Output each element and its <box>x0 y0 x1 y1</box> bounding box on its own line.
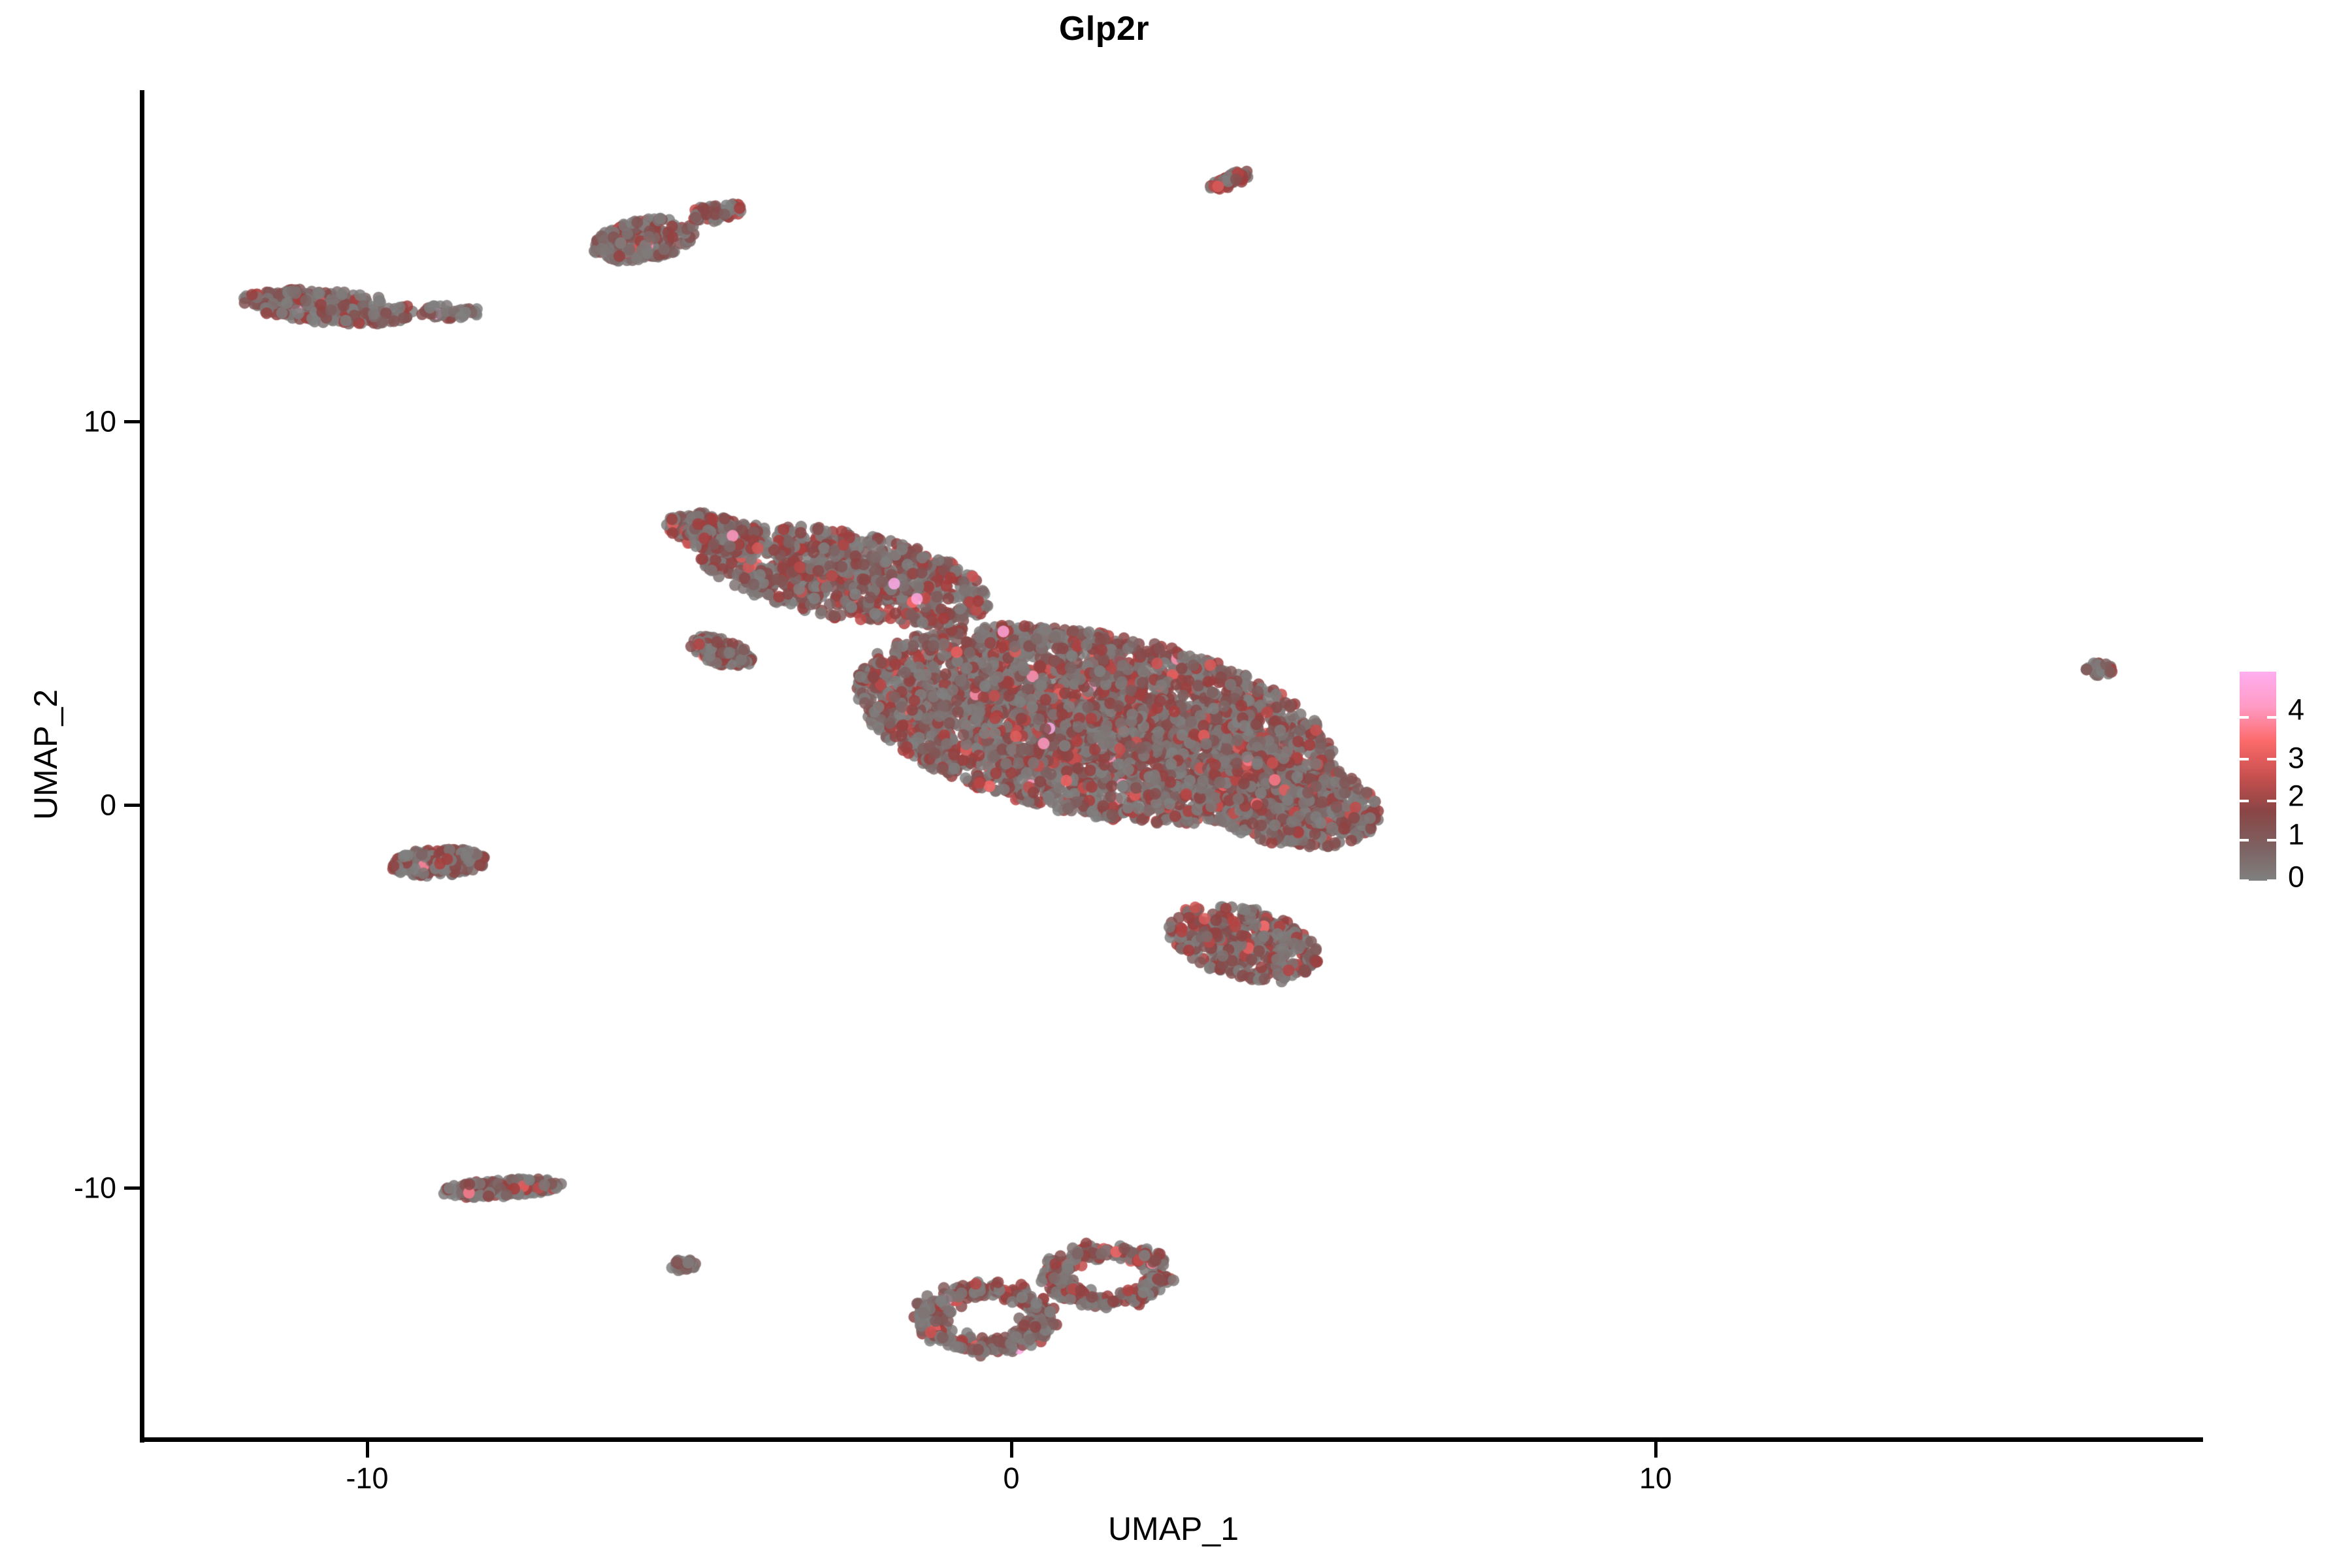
x-axis-line <box>140 1437 2203 1442</box>
colorbar-label: 2 <box>2288 781 2304 811</box>
x-tick-mark <box>366 1442 369 1458</box>
colorbar-tick <box>2267 839 2276 841</box>
colorbar-label: 1 <box>2288 820 2304 849</box>
x-tick-mark <box>1654 1442 1658 1458</box>
colorbar-tick <box>2240 839 2249 841</box>
scatter-plot-canvas <box>144 90 2203 1439</box>
x-tick-label: 0 <box>1003 1463 1019 1493</box>
plot-panel <box>144 90 2203 1439</box>
colorbar-tick <box>2240 716 2249 719</box>
colorbar-tick <box>2267 879 2276 882</box>
colorbar-tick <box>2240 758 2249 760</box>
y-axis-line <box>140 90 144 1443</box>
colorbar-tick <box>2267 758 2276 760</box>
colorbar-tick <box>2267 800 2276 802</box>
y-tick-mark <box>124 420 140 423</box>
x-axis-title: UMAP_1 <box>144 1512 2203 1545</box>
y-axis-title: UMAP_2 <box>29 493 62 1016</box>
colorbar-tick <box>2240 800 2249 802</box>
colorbar-tick <box>2240 879 2249 882</box>
colorbar-legend: 4 3 2 1 0 <box>2234 666 2345 889</box>
colorbar-gradient <box>2240 672 2276 881</box>
y-tick-mark <box>124 1186 140 1190</box>
colorbar-label: 4 <box>2288 695 2304 725</box>
x-tick-label: 10 <box>1639 1463 1672 1493</box>
colorbar-tick <box>2267 716 2276 719</box>
colorbar-label: 0 <box>2288 862 2304 892</box>
page-title: Glp2r <box>0 12 2208 46</box>
y-tick-label: 10 <box>0 407 116 436</box>
y-tick-label: -10 <box>0 1173 116 1203</box>
x-tick-label: -10 <box>346 1463 388 1493</box>
x-tick-mark <box>1010 1442 1013 1458</box>
y-tick-mark <box>124 804 140 807</box>
colorbar-label: 3 <box>2288 743 2304 773</box>
